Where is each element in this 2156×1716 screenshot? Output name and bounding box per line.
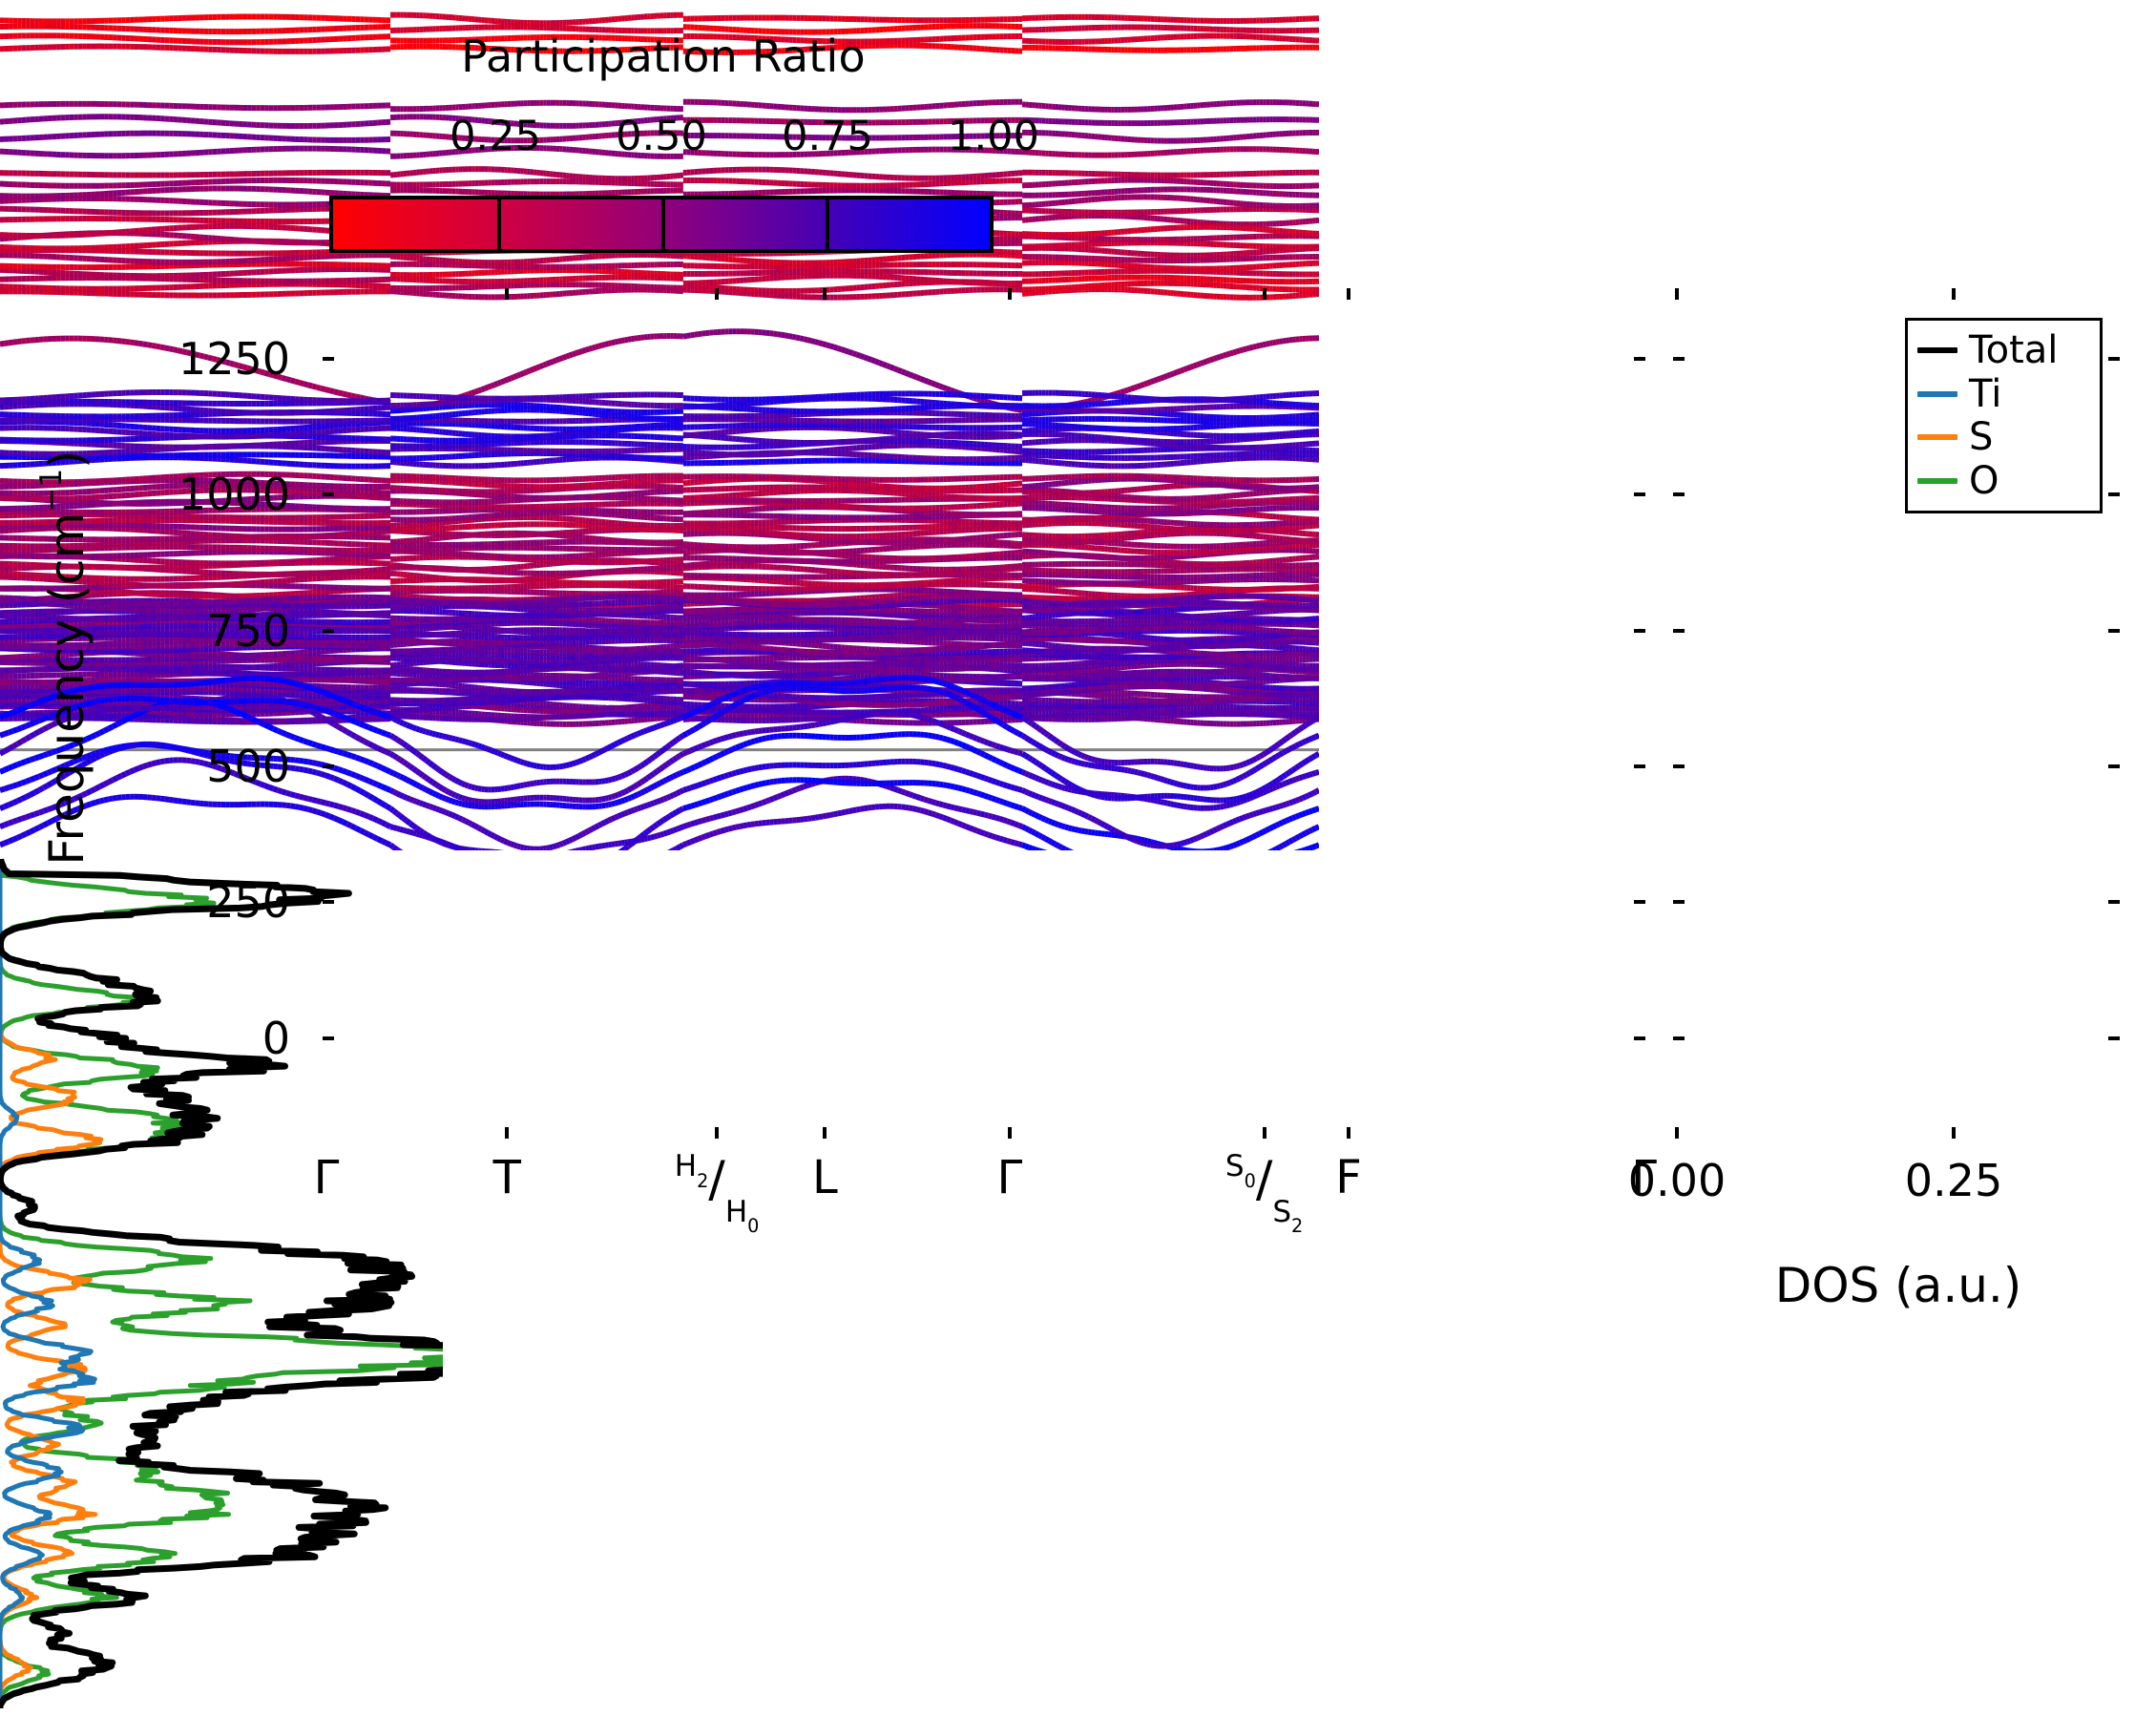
high-symmetry-label: S0/S2 [1225,1155,1303,1216]
colorbar-tick-label: 1.00 [948,113,1039,160]
dos-tick-mark [1675,1127,1679,1139]
high-symmetry-tick-mark [1347,288,1350,300]
legend-label: Ti [1969,375,2001,413]
dos-axis-title: DOS (a.u.) [1673,1258,2124,1313]
axis-tick-mark [323,1036,334,1040]
axis-tick-mark [323,900,334,904]
frequency-axis-title-text: Frequency (cm−1) [39,450,94,865]
axis-tick-mark [1673,900,1685,904]
dos-legend[interactable]: TotalTiSO [1905,318,2103,513]
legend-entry[interactable]: O [1917,460,2090,502]
axis-tick-mark [1634,492,1645,496]
frequency-axis-title: Frequency (cm−1) [39,324,94,992]
frequency-tick-label: 1000 [178,469,290,520]
axis-tick-mark [1634,1036,1645,1040]
dos-tick-mark [1675,288,1679,300]
axis-tick-mark [1634,900,1645,904]
legend-label: S [1969,418,1993,456]
colorbar-tick-mark [826,199,829,249]
axis-tick-mark [1673,492,1685,496]
frequency-tick-label: 0 [262,1013,290,1064]
dos-axis-tick-labels: 0.000.25 [1673,1155,2124,1241]
high-symmetry-tick-mark [715,1127,719,1139]
colorbar-tick-label: 0.75 [782,113,873,160]
axis-tick-mark [1673,629,1685,633]
high-symmetry-tick-mark [823,1127,827,1139]
high-symmetry-label: Γ [997,1155,1023,1201]
high-symmetry-label: F [1335,1155,1362,1201]
axis-tick-mark [323,492,334,496]
high-symmetry-point-labels: ΓTH2/H0LΓS0/S2FΓ [323,1155,1649,1269]
axis-tick-mark [323,764,334,768]
high-symmetry-label: T [493,1155,521,1201]
dos-tick-mark [1952,288,1956,300]
axis-tick-mark [2108,764,2120,768]
dos-tick-mark [1952,1127,1956,1139]
axis-tick-mark [2108,629,2120,633]
frequency-tick-label: 1250 [178,333,290,385]
frequency-axis-tick-labels: 025050075010001250 [115,284,305,1142]
high-symmetry-label: L [812,1155,838,1201]
legend-color-swatch [1917,347,1957,353]
axis-tick-mark [323,357,334,361]
legend-entry[interactable]: Ti [1917,373,2090,415]
axis-tick-mark [1634,764,1645,768]
colorbar[interactable] [329,196,994,253]
dos-tick-label: 0.00 [1628,1155,1726,1206]
axis-tick-mark [2108,492,2120,496]
colorbar-tick-label: 0.50 [616,113,707,160]
high-symmetry-tick-mark [823,288,827,300]
axis-tick-mark [2108,900,2120,904]
legend-entry[interactable]: Total [1917,329,2090,371]
high-symmetry-label: Γ [314,1155,340,1201]
frequency-tick-label: 250 [206,876,290,928]
colorbar-tick-labels: 0.250.500.751.00 [329,113,994,160]
axis-tick-mark [2108,357,2120,361]
colorbar-tick-mark [497,199,501,249]
high-symmetry-tick-mark [1008,288,1012,300]
legend-label: O [1969,462,1999,500]
high-symmetry-tick-mark [1263,1127,1266,1139]
axis-tick-mark [1634,357,1645,361]
high-symmetry-tick-mark [505,288,509,300]
high-symmetry-label: H2/H0 [675,1155,760,1216]
colorbar-tick-mark [661,199,665,249]
legend-color-swatch [1917,434,1957,440]
figure-canvas: Participation Ratio 0.250.500.751.00 025… [0,0,2156,1389]
axis-tick-mark [323,629,334,633]
legend-color-swatch [1917,391,1957,397]
high-symmetry-tick-mark [1347,1127,1350,1139]
frequency-tick-label: 750 [206,605,290,657]
axis-tick-mark [1673,764,1685,768]
colorbar-tick-label: 0.25 [450,113,541,160]
dos-tick-label: 0.25 [1905,1155,2002,1206]
axis-tick-mark [2108,1036,2120,1040]
legend-color-swatch [1917,478,1957,484]
axis-tick-mark [1673,1036,1685,1040]
axis-tick-mark [1673,357,1685,361]
colorbar-title: Participation Ratio [329,31,997,82]
legend-entry[interactable]: S [1917,416,2090,458]
legend-label: Total [1969,331,2058,369]
high-symmetry-tick-mark [1008,1127,1012,1139]
high-symmetry-tick-mark [1263,288,1266,300]
high-symmetry-tick-mark [505,1127,509,1139]
frequency-tick-label: 500 [206,741,290,792]
high-symmetry-tick-mark [715,288,719,300]
axis-tick-mark [1634,629,1645,633]
